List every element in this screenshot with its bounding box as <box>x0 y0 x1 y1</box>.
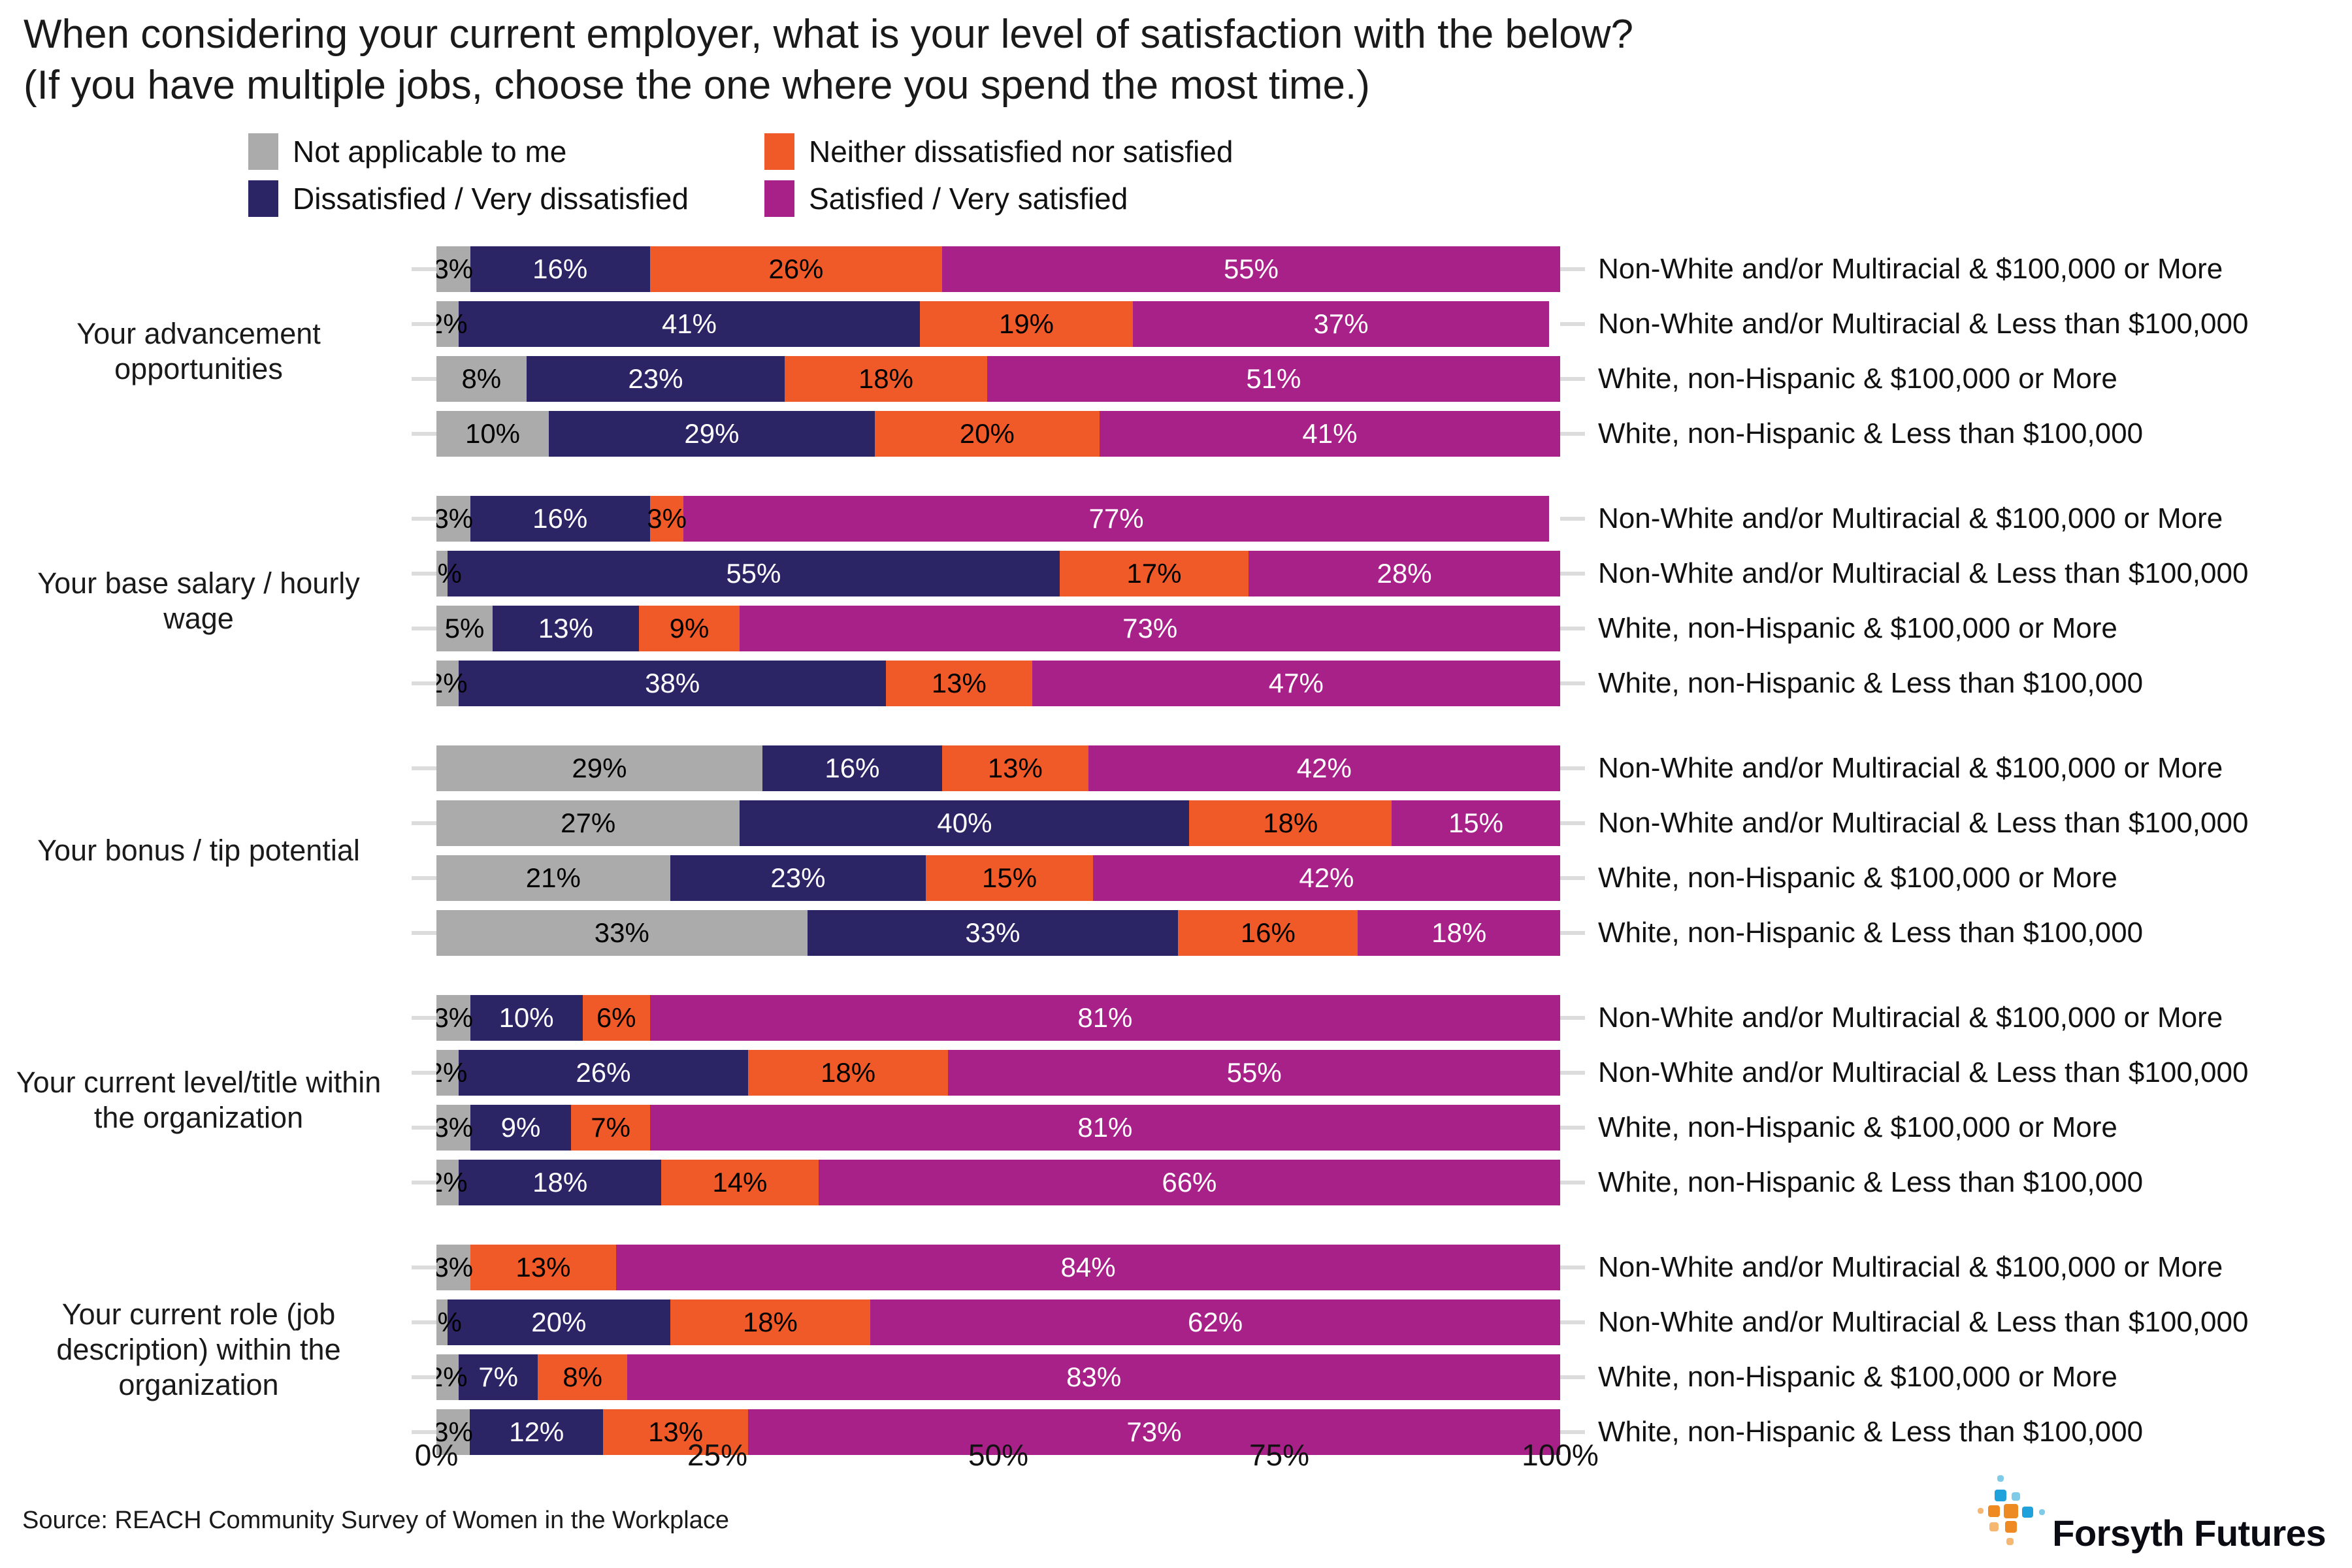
stacked-bar: 3%10%6%81% <box>436 995 1560 1041</box>
bar-segment[interactable]: 9% <box>639 606 740 651</box>
bar-segment[interactable]: 51% <box>987 356 1560 402</box>
legend-item-label: Satisfied / Very satisfied <box>809 182 1128 216</box>
group-spacer <box>0 711 2352 741</box>
stacked-bar: 2%38%13%47% <box>436 661 1560 706</box>
row-tick-right <box>1560 572 1585 576</box>
bar-segment[interactable]: 8% <box>538 1354 628 1400</box>
row-tick-left <box>412 517 436 521</box>
logo-dot <box>2012 1492 2020 1501</box>
group-category-label: Your current level/title within the orga… <box>0 990 412 1210</box>
stacked-bar: 2%26%18%55% <box>436 1050 1560 1096</box>
bar-segment-value: 15% <box>1448 809 1503 837</box>
bar-segment[interactable]: 26% <box>459 1050 748 1096</box>
bar-segment-value: 18% <box>1431 919 1486 947</box>
bar-segment-value: 20% <box>531 1309 586 1336</box>
bar-segment[interactable]: 16% <box>470 496 650 542</box>
row-subgroup-label: Non-White and/or Multiracial & Less than… <box>1585 1056 2352 1089</box>
bar-segment-value: 9% <box>501 1114 541 1141</box>
stacked-bar: 3%9%7%81% <box>436 1105 1560 1151</box>
chart-row: 2%41%19%37%Non-White and/or Multiracial … <box>412 297 2352 351</box>
bar-segment[interactable]: 13% <box>493 606 639 651</box>
row-tick-right <box>1560 821 1585 825</box>
row-tick-left <box>412 1266 436 1269</box>
bar-segment-value: 3% <box>436 255 473 283</box>
bar-segment-value: 17% <box>1126 560 1181 587</box>
bar-segment-value: 55% <box>726 560 781 587</box>
bar-segment[interactable]: 2% <box>436 1160 459 1205</box>
legend-swatch-icon <box>764 180 794 217</box>
bar-segment[interactable]: 13% <box>886 661 1032 706</box>
bar-segment-value: 9% <box>670 615 710 642</box>
row-tick-left <box>412 766 436 770</box>
bar-segment-value: 16% <box>532 505 587 532</box>
row-tick-left <box>412 1016 436 1020</box>
group-spacer <box>0 1210 2352 1240</box>
bar-segment[interactable]: 10% <box>470 995 583 1041</box>
bar-segment-value: 16% <box>1241 919 1296 947</box>
bar-segment[interactable]: 16% <box>470 246 650 292</box>
bar-segment-value: 21% <box>526 864 581 892</box>
bar-segment-value: 33% <box>595 919 649 947</box>
stacked-bar: 2%41%19%37% <box>436 301 1560 347</box>
row-subgroup-label: White, non-Hispanic & Less than $100,000 <box>1585 917 2352 949</box>
row-subgroup-label: White, non-Hispanic & $100,000 or More <box>1585 1111 2352 1144</box>
bar-segment-value: 19% <box>999 310 1054 338</box>
chart-row: 2%38%13%47%White, non-Hispanic & Less th… <box>412 656 2352 711</box>
chart-row: 2%26%18%55%Non-White and/or Multiracial … <box>412 1045 2352 1100</box>
row-subgroup-label: Non-White and/or Multiracial & Less than… <box>1585 308 2352 340</box>
row-tick-left <box>412 681 436 685</box>
bar-segment-value: 7% <box>591 1114 630 1141</box>
bar-segment-value: 18% <box>821 1059 875 1086</box>
row-tick-right <box>1560 517 1585 521</box>
chart-row: 21%23%15%42%White, non-Hispanic & $100,0… <box>412 851 2352 906</box>
row-tick-right <box>1560 1071 1585 1075</box>
row-tick-left <box>412 1375 436 1379</box>
logo-dot <box>2006 1538 2014 1545</box>
bar-segment-value: 26% <box>576 1059 630 1086</box>
row-subgroup-label: White, non-Hispanic & $100,000 or More <box>1585 612 2352 645</box>
bar-segment[interactable]: 40% <box>740 800 1189 846</box>
bar-segment[interactable]: 10% <box>436 411 549 457</box>
legend-item[interactable]: Neither dissatisfied nor satisfied <box>764 133 1418 170</box>
bar-segment-value: 18% <box>532 1169 587 1196</box>
bar-segment[interactable]: 7% <box>459 1354 537 1400</box>
stacked-bar: 1%20%18%62% <box>436 1299 1560 1345</box>
row-tick-right <box>1560 766 1585 770</box>
bar-segment[interactable]: 37% <box>1133 301 1548 347</box>
bar-segment[interactable]: 29% <box>436 745 762 791</box>
bar-segment[interactable]: 18% <box>785 356 987 402</box>
legend-item[interactable]: Satisfied / Very satisfied <box>764 180 1418 217</box>
bar-segment-value: 28% <box>1377 560 1432 587</box>
chart-plot-area: Your advancement opportunities3%16%26%55… <box>0 242 2352 1437</box>
bar-segment[interactable]: 14% <box>661 1160 819 1205</box>
row-tick-right <box>1560 1266 1585 1269</box>
row-tick-right <box>1560 1430 1585 1434</box>
legend-item-label: Dissatisfied / Very dissatisfied <box>293 182 689 216</box>
bar-segment-value: 5% <box>445 615 485 642</box>
bar-segment[interactable]: 83% <box>627 1354 1560 1400</box>
chart-row: 10%29%20%41%White, non-Hispanic & Less t… <box>412 406 2352 461</box>
bar-segment[interactable]: 18% <box>748 1050 949 1096</box>
legend-swatch-icon <box>248 133 278 170</box>
bar-segment[interactable]: 3% <box>436 995 470 1041</box>
row-subgroup-label: Non-White and/or Multiracial & $100,000 … <box>1585 752 2352 785</box>
row-tick-right <box>1560 377 1585 381</box>
row-tick-left <box>412 821 436 825</box>
x-axis-tick-label: 75% <box>1249 1437 1309 1473</box>
bar-segment[interactable]: 2% <box>436 1354 459 1400</box>
x-axis-tick-label: 50% <box>968 1437 1028 1473</box>
chart-group: Your base salary / hourly wage3%16%3%77%… <box>0 491 2352 711</box>
bar-segment[interactable]: 3% <box>436 246 470 292</box>
logo-dot <box>2005 1521 2017 1533</box>
stacked-bar: 27%40%18%15% <box>436 800 1560 846</box>
row-tick-left <box>412 1181 436 1184</box>
chart-legend: Not applicable to meNeither dissatisfied… <box>248 128 1418 222</box>
forsyth-futures-logo: Forsyth Futures <box>1971 1474 2326 1552</box>
bar-segment[interactable]: 18% <box>1189 800 1392 846</box>
x-axis-tick-label: 25% <box>687 1437 747 1473</box>
bar-segment[interactable]: 62% <box>870 1299 1560 1345</box>
bar-segment-value: 7% <box>478 1364 518 1391</box>
bar-segment-value: 38% <box>645 670 700 697</box>
bar-segment[interactable]: 2% <box>436 301 459 347</box>
row-subgroup-label: White, non-Hispanic & Less than $100,000 <box>1585 1166 2352 1199</box>
bar-segment-value: 10% <box>465 420 520 448</box>
row-subgroup-label: Non-White and/or Multiracial & Less than… <box>1585 557 2352 590</box>
legend-item[interactable]: Dissatisfied / Very dissatisfied <box>248 180 764 217</box>
chart-row: 5%13%9%73%White, non-Hispanic & $100,000… <box>412 601 2352 656</box>
chart-row: 2%18%14%66%White, non-Hispanic & Less th… <box>412 1155 2352 1210</box>
bar-segment[interactable]: 8% <box>436 356 527 402</box>
bar-segment-value: 23% <box>770 864 825 892</box>
stacked-bar: 21%23%15%42% <box>436 855 1560 901</box>
bar-segment[interactable]: 33% <box>436 910 808 956</box>
bar-segment[interactable]: 6% <box>583 995 650 1041</box>
bar-segment-value: 18% <box>858 365 913 393</box>
bar-segment-value: 18% <box>743 1309 798 1336</box>
chart-group: Your current role (job description) with… <box>0 1240 2352 1460</box>
bar-segment[interactable]: 9% <box>470 1105 572 1151</box>
bar-segment-value: 16% <box>532 255 587 283</box>
bar-segment-value: 41% <box>662 310 717 338</box>
chart-row: 3%16%3%77%Non-White and/or Multiracial &… <box>412 491 2352 546</box>
bar-segment-value: 29% <box>684 420 739 448</box>
bar-segment[interactable]: 41% <box>459 301 919 347</box>
bar-segment-value: 42% <box>1299 864 1354 892</box>
logo-dot <box>1995 1490 2006 1501</box>
chart-row: 33%33%16%18%White, non-Hispanic & Less t… <box>412 906 2352 960</box>
row-tick-left <box>412 432 436 436</box>
bar-segment[interactable]: 23% <box>527 356 785 402</box>
bar-segment-value: 3% <box>436 1114 473 1141</box>
x-axis: 0%25%50%75%100% <box>412 1437 1585 1490</box>
logo-dot <box>2004 1504 2018 1518</box>
row-tick-right <box>1560 876 1585 880</box>
bar-segment-value: 23% <box>628 365 683 393</box>
chart-row: 3%16%26%55%Non-White and/or Multiracial … <box>412 242 2352 297</box>
bar-segment-value: 3% <box>436 505 473 532</box>
row-tick-right <box>1560 1375 1585 1379</box>
bar-segment-value: 3% <box>647 505 687 532</box>
bar-segment[interactable]: 16% <box>1178 910 1358 956</box>
row-subgroup-label: Non-White and/or Multiracial & Less than… <box>1585 807 2352 840</box>
stacked-bar: 33%33%16%18% <box>436 910 1560 956</box>
row-tick-left <box>412 1071 436 1075</box>
bar-segment-value: 14% <box>712 1169 767 1196</box>
bar-segment[interactable]: 15% <box>926 855 1092 901</box>
bar-segment-value: 40% <box>937 809 992 837</box>
chart-row: 8%23%18%51%White, non-Hispanic & $100,00… <box>412 351 2352 406</box>
bar-segment[interactable]: 41% <box>1100 411 1560 457</box>
row-subgroup-label: White, non-Hispanic & Less than $100,000 <box>1585 667 2352 700</box>
bar-segment[interactable]: 18% <box>1358 910 1560 956</box>
bar-segment-value: 8% <box>563 1364 602 1391</box>
bar-segment[interactable]: 42% <box>1093 855 1560 901</box>
bar-segment[interactable]: 3% <box>436 1245 470 1290</box>
x-axis-tick-label: 100% <box>1522 1437 1599 1473</box>
bar-segment[interactable]: 2% <box>436 1050 459 1096</box>
bar-segment[interactable]: 13% <box>942 745 1088 791</box>
row-tick-left <box>412 377 436 381</box>
bar-segment[interactable]: 3% <box>650 496 684 542</box>
bar-segment[interactable]: 77% <box>683 496 1548 542</box>
row-tick-left <box>412 267 436 271</box>
row-subgroup-label: Non-White and/or Multiracial & Less than… <box>1585 1306 2352 1339</box>
bar-segment[interactable]: 15% <box>1392 800 1560 846</box>
bar-segment[interactable]: 55% <box>448 551 1060 596</box>
bar-segment-value: 47% <box>1269 670 1324 697</box>
bar-segment[interactable]: 18% <box>670 1299 871 1345</box>
stacked-bar: 3%16%3%77% <box>436 496 1560 542</box>
row-tick-left <box>412 572 436 576</box>
bar-segment-value: 27% <box>561 809 615 837</box>
row-tick-left <box>412 322 436 326</box>
chart-row: 3%10%6%81%Non-White and/or Multiracial &… <box>412 990 2352 1045</box>
bar-segment-value: 42% <box>1297 755 1352 782</box>
row-tick-left <box>412 1126 436 1130</box>
bar-segment[interactable]: 16% <box>762 745 942 791</box>
logo-dot <box>1997 1475 2004 1482</box>
chart-row: 27%40%18%15%Non-White and/or Multiracial… <box>412 796 2352 851</box>
row-tick-right <box>1560 1320 1585 1324</box>
bar-segment-value: 66% <box>1162 1169 1217 1196</box>
stacked-bar: 3%13%84% <box>436 1245 1560 1290</box>
bar-segment-value: 29% <box>572 755 627 782</box>
row-subgroup-label: White, non-Hispanic & Less than $100,000 <box>1585 1416 2352 1448</box>
row-tick-right <box>1560 432 1585 436</box>
stacked-bar: 2%7%8%83% <box>436 1354 1560 1400</box>
bar-segment[interactable]: 47% <box>1032 661 1560 706</box>
bar-segment[interactable]: 81% <box>650 995 1560 1041</box>
bar-segment-value: 13% <box>515 1254 570 1281</box>
bar-segment-value: 37% <box>1314 310 1369 338</box>
group-spacer <box>0 960 2352 990</box>
row-tick-right <box>1560 931 1585 935</box>
row-tick-left <box>412 1430 436 1434</box>
bar-segment[interactable]: 19% <box>920 301 1134 347</box>
bar-segment-value: 73% <box>1122 615 1177 642</box>
bar-segment-value: 33% <box>965 919 1020 947</box>
row-tick-left <box>412 627 436 630</box>
row-tick-left <box>412 931 436 935</box>
chart-row: 1%55%17%28%Non-White and/or Multiracial … <box>412 546 2352 601</box>
row-subgroup-label: Non-White and/or Multiracial & $100,000 … <box>1585 253 2352 286</box>
stacked-bar: 2%18%14%66% <box>436 1160 1560 1205</box>
row-tick-left <box>412 1320 436 1324</box>
bar-segment-value: 18% <box>1263 809 1318 837</box>
bar-segment[interactable]: 55% <box>942 246 1560 292</box>
bar-segment[interactable]: 27% <box>436 800 740 846</box>
bar-segment[interactable]: 66% <box>819 1160 1560 1205</box>
row-subgroup-label: White, non-Hispanic & $100,000 or More <box>1585 862 2352 894</box>
bar-segment-value: 81% <box>1077 1004 1132 1032</box>
bar-segment[interactable]: 28% <box>1249 551 1560 596</box>
chart-title: When considering your current employer, … <box>24 9 2245 111</box>
bar-segment-value: 41% <box>1302 420 1357 448</box>
group-category-label: Your advancement opportunities <box>0 242 412 461</box>
chart-group: Your bonus / tip potential29%16%13%42%No… <box>0 741 2352 960</box>
chart-row: 3%13%84%Non-White and/or Multiracial & $… <box>412 1240 2352 1295</box>
bar-segment[interactable]: 23% <box>670 855 926 901</box>
legend-swatch-icon <box>764 133 794 170</box>
bar-segment-value: 51% <box>1246 365 1301 393</box>
logo-wordmark: Forsyth Futures <box>2052 1514 2326 1552</box>
bar-segment[interactable]: 18% <box>459 1160 661 1205</box>
row-subgroup-label: Non-White and/or Multiracial & $100,000 … <box>1585 1251 2352 1284</box>
logo-dot <box>1989 1522 1999 1531</box>
stacked-bar: 8%23%18%51% <box>436 356 1560 402</box>
logo-dot <box>2022 1507 2033 1518</box>
bar-segment-value: 13% <box>932 670 987 697</box>
bar-segment[interactable]: 33% <box>808 910 1179 956</box>
legend-item-label: Neither dissatisfied nor satisfied <box>809 135 1233 169</box>
logo-dot <box>1978 1508 1984 1514</box>
chart-group: Your current level/title within the orga… <box>0 990 2352 1210</box>
bar-segment[interactable]: 73% <box>740 606 1560 651</box>
bar-segment[interactable]: 1% <box>436 551 448 596</box>
bar-segment[interactable]: 84% <box>616 1245 1560 1290</box>
source-note: Source: REACH Community Survey of Women … <box>22 1507 729 1535</box>
bar-segment-value: 55% <box>1224 255 1279 283</box>
bar-segment[interactable]: 38% <box>459 661 886 706</box>
bar-segment-value: 6% <box>596 1004 636 1032</box>
bar-segment-value: 83% <box>1066 1364 1121 1391</box>
row-subgroup-label: Non-White and/or Multiracial & $100,000 … <box>1585 502 2352 535</box>
bar-segment[interactable]: 13% <box>470 1245 617 1290</box>
row-tick-right <box>1560 627 1585 630</box>
bar-segment[interactable]: 20% <box>875 411 1100 457</box>
row-tick-right <box>1560 681 1585 685</box>
bar-segment[interactable]: 29% <box>549 411 875 457</box>
legend-item[interactable]: Not applicable to me <box>248 133 764 170</box>
row-tick-right <box>1560 322 1585 326</box>
chart-title-line-2: (If you have multiple jobs, choose the o… <box>24 60 2245 111</box>
bar-segment-value: 3% <box>436 1254 473 1281</box>
chart-row: 29%16%13%42%Non-White and/or Multiracial… <box>412 741 2352 796</box>
row-tick-left <box>412 876 436 880</box>
bar-segment-value: 77% <box>1089 505 1144 532</box>
bar-segment[interactable]: 3% <box>436 1105 470 1151</box>
legend-swatch-icon <box>248 180 278 217</box>
bar-segment[interactable]: 2% <box>436 661 459 706</box>
stacked-bar: 10%29%20%41% <box>436 411 1560 457</box>
group-category-label: Your base salary / hourly wage <box>0 491 412 711</box>
row-tick-right <box>1560 267 1585 271</box>
bar-segment-value: 8% <box>461 365 501 393</box>
chart-group: Your advancement opportunities3%16%26%55… <box>0 242 2352 461</box>
row-subgroup-label: Non-White and/or Multiracial & $100,000 … <box>1585 1002 2352 1034</box>
bar-segment-value: 3% <box>436 1004 473 1032</box>
bar-segment[interactable]: 3% <box>436 496 470 542</box>
row-subgroup-label: White, non-Hispanic & Less than $100,000 <box>1585 417 2352 450</box>
logo-dot <box>2039 1509 2045 1515</box>
row-tick-right <box>1560 1126 1585 1130</box>
bar-segment-value: 13% <box>988 755 1043 782</box>
chart-row: 3%9%7%81%White, non-Hispanic & $100,000 … <box>412 1100 2352 1155</box>
bar-segment-value: 10% <box>499 1004 554 1032</box>
row-subgroup-label: White, non-Hispanic & $100,000 or More <box>1585 363 2352 395</box>
bar-segment[interactable]: 21% <box>436 855 670 901</box>
logo-dots-icon <box>1971 1474 2043 1552</box>
bar-segment-value: 20% <box>960 420 1015 448</box>
legend-item-label: Not applicable to me <box>293 135 566 169</box>
group-category-label: Your current role (job description) with… <box>0 1240 412 1460</box>
bar-segment[interactable]: 20% <box>448 1299 670 1345</box>
x-axis-tick-label: 0% <box>415 1437 458 1473</box>
row-tick-right <box>1560 1016 1585 1020</box>
chart-row: 2%7%8%83%White, non-Hispanic & $100,000 … <box>412 1350 2352 1405</box>
group-category-label: Your bonus / tip potential <box>0 741 412 960</box>
stacked-bar: 3%16%26%55% <box>436 246 1560 292</box>
bar-segment[interactable]: 1% <box>436 1299 448 1345</box>
bar-segment[interactable]: 26% <box>650 246 942 292</box>
bar-segment-value: 16% <box>825 755 879 782</box>
bar-segment-value: 62% <box>1188 1309 1243 1336</box>
bar-segment[interactable]: 7% <box>571 1105 649 1151</box>
logo-dot <box>1988 1505 2000 1517</box>
chart-row: 1%20%18%62%Non-White and/or Multiracial … <box>412 1295 2352 1350</box>
stacked-bar: 5%13%9%73% <box>436 606 1560 651</box>
bar-segment-value: 15% <box>982 864 1037 892</box>
bar-segment[interactable]: 5% <box>436 606 493 651</box>
bar-segment[interactable]: 55% <box>948 1050 1560 1096</box>
chart-title-line-1: When considering your current employer, … <box>24 9 2245 60</box>
row-tick-right <box>1560 1181 1585 1184</box>
bar-segment[interactable]: 42% <box>1088 745 1560 791</box>
bar-segment-value: 81% <box>1077 1114 1132 1141</box>
bar-segment-value: 13% <box>538 615 593 642</box>
row-subgroup-label: White, non-Hispanic & $100,000 or More <box>1585 1361 2352 1394</box>
stacked-bar: 29%16%13%42% <box>436 745 1560 791</box>
bar-segment[interactable]: 81% <box>650 1105 1560 1151</box>
bar-segment-value: 26% <box>768 255 823 283</box>
group-spacer <box>0 461 2352 491</box>
bar-segment-value: 84% <box>1061 1254 1116 1281</box>
bar-segment[interactable]: 17% <box>1060 551 1249 596</box>
stacked-bar: 1%55%17%28% <box>436 551 1560 596</box>
bar-segment-value: 55% <box>1227 1059 1282 1086</box>
